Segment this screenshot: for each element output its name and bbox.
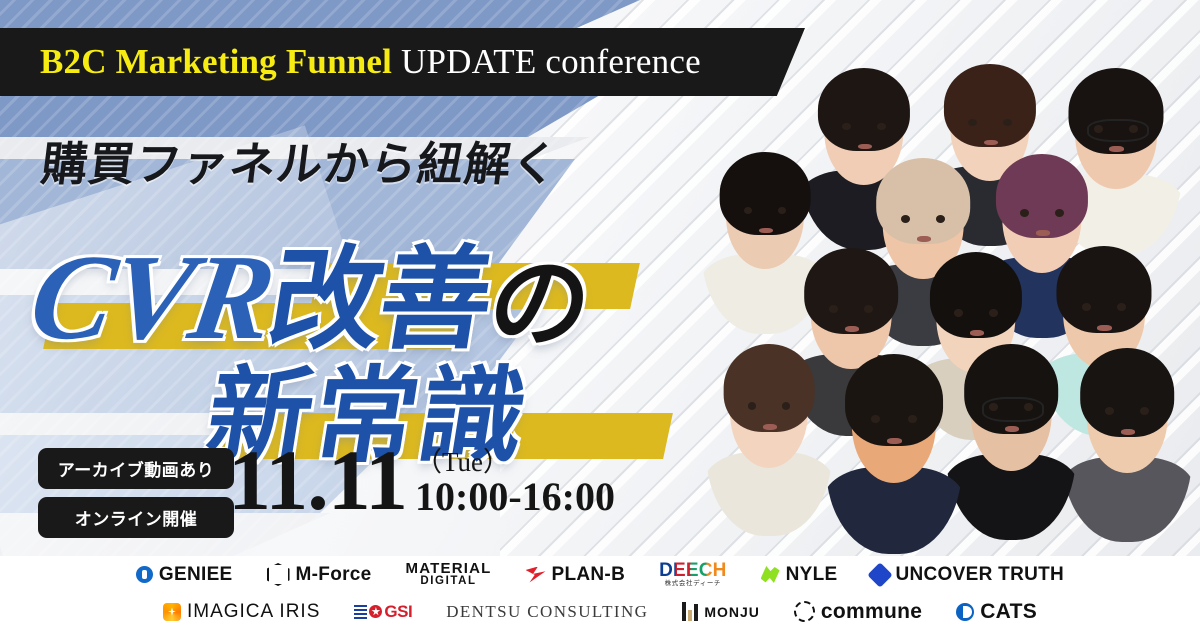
gsi-bars — [354, 605, 367, 619]
monju-bar-1 — [682, 602, 686, 621]
speaker-hair — [804, 248, 898, 334]
speaker-mouth — [759, 228, 773, 234]
speaker-hair — [720, 152, 811, 236]
speaker-eye-right — [936, 215, 945, 223]
conference-title-highlight: B2C Marketing Funnel — [40, 42, 392, 81]
speaker-mouth — [917, 236, 931, 242]
sponsor-subname: DIGITAL — [406, 576, 492, 588]
speaker-mouth — [1121, 429, 1135, 435]
sponsor-name: CATS — [980, 600, 1037, 624]
speaker-hair — [876, 158, 970, 244]
cats-circle-icon — [956, 603, 974, 621]
speaker-mouth — [1097, 325, 1112, 331]
sponsor-name: UNCOVER TRUTH — [895, 564, 1064, 586]
sponsor-name: GENIEE — [159, 564, 233, 586]
sponsor-commune: commune — [794, 600, 922, 624]
event-date: 11.11 — [228, 440, 407, 522]
sponsor-imagica-iris: IMAGICA IRIS — [163, 601, 320, 623]
speaker-hair — [818, 68, 910, 152]
speaker-eye-left — [901, 215, 910, 223]
conference-title: B2C Marketing Funnel UPDATE conference — [40, 42, 701, 82]
badge-archive-video: アーカイブ動画あり — [38, 448, 234, 489]
commune-dotted-circle-icon — [794, 601, 815, 622]
sponsor-name: MONJU — [704, 604, 760, 620]
speaker-eye-right — [877, 123, 886, 131]
speaker-eye-left — [829, 305, 838, 313]
sponsor-subname: 株式会社ディーチ — [659, 581, 727, 588]
speaker-mouth — [845, 326, 859, 332]
imagica-star-icon — [163, 603, 181, 621]
speaker-mouth — [970, 330, 984, 336]
sponsor-gsi: GSI — [354, 602, 412, 622]
event-weekday: （Tue） — [415, 449, 615, 476]
conference-title-bar: B2C Marketing Funnel UPDATE conference — [0, 28, 805, 96]
sponsor-name: commune — [821, 600, 922, 624]
gsi-star — [369, 605, 382, 618]
speaker-eye-right — [864, 305, 873, 313]
event-date-details: （Tue） 10:00-16:00 — [415, 449, 615, 518]
speaker-mouth — [887, 438, 902, 444]
event-date-block: 11.11 （Tue） 10:00-16:00 — [228, 440, 615, 522]
gsi-flag-icon: GSI — [354, 602, 412, 622]
speaker-eye-right — [908, 415, 918, 423]
sponsor-row-1: GENIEE M-Force MATERIAL DIGITAL PLAN-B D… — [0, 556, 1200, 593]
speaker-eye-left — [954, 309, 963, 317]
speaker-mouth — [763, 424, 777, 430]
speaker-eye-right — [1140, 407, 1149, 415]
uncover-diamond-icon — [868, 562, 893, 587]
speaker-photo-collage — [690, 60, 1200, 556]
sponsor-logo-footer: GENIEE M-Force MATERIAL DIGITAL PLAN-B D… — [0, 556, 1200, 630]
sponsor-material-digital: MATERIAL DIGITAL — [406, 561, 492, 588]
event-banner: B2C Marketing Funnel UPDATE conference 購… — [0, 0, 1200, 630]
event-badges: アーカイブ動画あり オンライン開催 — [38, 448, 234, 538]
glasses-icon — [982, 397, 1043, 421]
event-time: 10:00-16:00 — [415, 476, 615, 518]
sponsor-uncover-truth: UNCOVER TRUTH — [871, 564, 1064, 586]
speaker-hair — [996, 154, 1088, 238]
sponsor-deech: DEECH 株式会社ディーチ — [659, 561, 727, 588]
sponsor-nyle: NYLE — [761, 564, 838, 586]
sponsor-plan-b: PLAN-B — [526, 564, 626, 586]
sponsor-m-force: M-Force — [267, 563, 372, 586]
sponsor-row-2: IMAGICA IRIS GSI DENTSU CONSULTING MONJU — [0, 593, 1200, 630]
planb-burst-icon — [526, 567, 546, 583]
deech-wordmark: DEECH 株式会社ディーチ — [659, 561, 727, 588]
speaker-mouth — [858, 144, 872, 150]
speaker-hair — [845, 354, 943, 446]
speaker-hair — [930, 252, 1022, 338]
sponsor-name: DEECH — [659, 560, 727, 581]
speaker-mouth — [1036, 230, 1050, 236]
sponsor-name: GSI — [384, 602, 412, 622]
monju-bar-2 — [688, 610, 692, 621]
speaker-eye-right — [989, 309, 998, 317]
sponsor-dentsu-consulting: DENTSU CONSULTING — [446, 602, 648, 622]
speaker-hair — [724, 344, 815, 432]
speaker-mouth — [984, 140, 998, 146]
speaker-hair — [944, 64, 1036, 148]
speaker-mouth — [1109, 146, 1124, 152]
speaker-eye-right — [1055, 209, 1064, 217]
hexagon-icon — [267, 563, 290, 586]
sponsor-name: PLAN-B — [552, 564, 626, 586]
monju-bars-icon — [682, 602, 698, 621]
badge-online-event: オンライン開催 — [38, 497, 234, 538]
material-wordmark: MATERIAL DIGITAL — [406, 561, 492, 588]
speaker-eye-left — [1082, 303, 1091, 311]
sponsor-name: M-Force — [296, 564, 372, 586]
conference-title-rest: UPDATE conference — [401, 42, 701, 81]
speaker-eye-right — [1003, 119, 1012, 127]
sponsor-geniee: GENIEE — [136, 564, 233, 586]
sponsor-name: NYLE — [786, 564, 838, 586]
monju-bar-3 — [694, 604, 698, 621]
headline-block: CVR改善の 新常識 — [0, 185, 760, 435]
speaker-hair — [1056, 246, 1151, 333]
sponsor-cats: CATS — [956, 600, 1037, 624]
geniee-circle-icon — [136, 566, 153, 583]
sponsor-name: IMAGICA IRIS — [187, 601, 320, 623]
glasses-icon — [1087, 119, 1149, 143]
sponsor-name: DENTSU CONSULTING — [446, 602, 648, 622]
speaker-mouth — [1005, 426, 1019, 432]
speaker-eye-left — [1105, 407, 1114, 415]
sponsor-monju: MONJU — [682, 602, 760, 621]
speaker-hair — [1080, 348, 1174, 437]
nyle-zigzag-icon — [761, 566, 780, 583]
